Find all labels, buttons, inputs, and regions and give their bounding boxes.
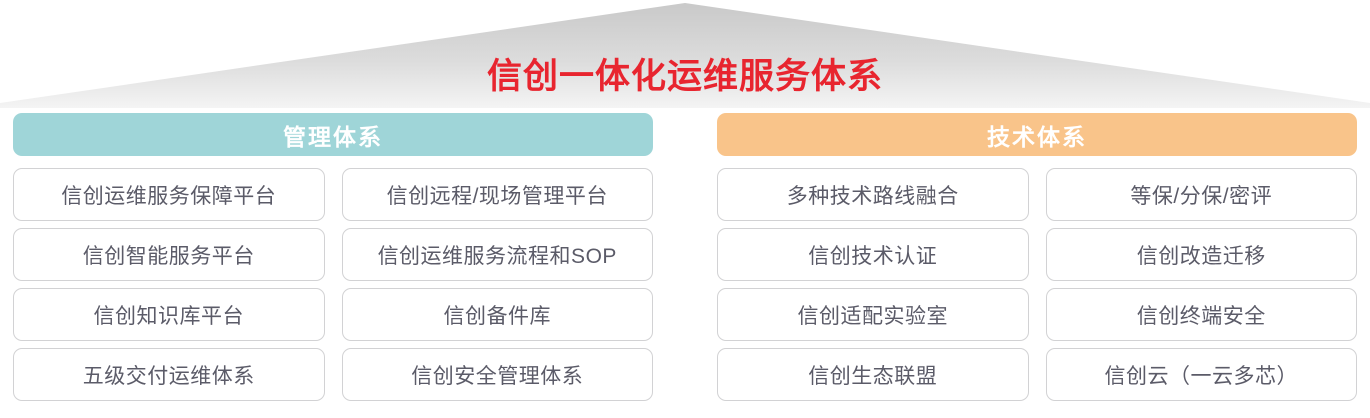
- management-column-1: 信创运维服务保障平台 信创智能服务平台 信创知识库平台 五级交付运维体系: [13, 168, 325, 418]
- card-item[interactable]: 信创适配实验室: [717, 288, 1029, 341]
- technology-columns: 多种技术路线融合 信创技术认证 信创适配实验室 信创生态联盟 等保/分保/密评 …: [717, 168, 1357, 418]
- group-technology: 技术体系 多种技术路线融合 信创技术认证 信创适配实验室 信创生态联盟 等保/分…: [717, 113, 1357, 418]
- card-item[interactable]: 五级交付运维体系: [13, 348, 325, 401]
- technology-column-1: 多种技术路线融合 信创技术认证 信创适配实验室 信创生态联盟: [717, 168, 1029, 418]
- group-management: 管理体系 信创运维服务保障平台 信创智能服务平台 信创知识库平台 五级交付运维体…: [13, 113, 653, 418]
- card-item[interactable]: 信创知识库平台: [13, 288, 325, 341]
- card-item[interactable]: 信创运维服务流程和SOP: [342, 228, 654, 281]
- card-item[interactable]: 信创智能服务平台: [13, 228, 325, 281]
- card-item[interactable]: 多种技术路线融合: [717, 168, 1029, 221]
- card-item[interactable]: 信创运维服务保障平台: [13, 168, 325, 221]
- card-item[interactable]: 信创远程/现场管理平台: [342, 168, 654, 221]
- systems-board: 管理体系 信创运维服务保障平台 信创智能服务平台 信创知识库平台 五级交付运维体…: [0, 113, 1370, 418]
- card-item[interactable]: 信创云（一云多芯）: [1046, 348, 1358, 401]
- card-item[interactable]: 信创改造迁移: [1046, 228, 1358, 281]
- card-item[interactable]: 信创生态联盟: [717, 348, 1029, 401]
- card-item[interactable]: 等保/分保/密评: [1046, 168, 1358, 221]
- card-item[interactable]: 信创安全管理体系: [342, 348, 654, 401]
- card-item[interactable]: 信创技术认证: [717, 228, 1029, 281]
- card-item[interactable]: 信创终端安全: [1046, 288, 1358, 341]
- page-title: 信创一体化运维服务体系: [0, 55, 1370, 99]
- technology-column-2: 等保/分保/密评 信创改造迁移 信创终端安全 信创云（一云多芯）: [1046, 168, 1358, 418]
- card-item[interactable]: 信创备件库: [342, 288, 654, 341]
- group-header-technology: 技术体系: [717, 113, 1357, 156]
- management-columns: 信创运维服务保障平台 信创智能服务平台 信创知识库平台 五级交付运维体系 信创远…: [13, 168, 653, 418]
- management-column-2: 信创远程/现场管理平台 信创运维服务流程和SOP 信创备件库 信创安全管理体系: [342, 168, 654, 418]
- group-header-management: 管理体系: [13, 113, 653, 156]
